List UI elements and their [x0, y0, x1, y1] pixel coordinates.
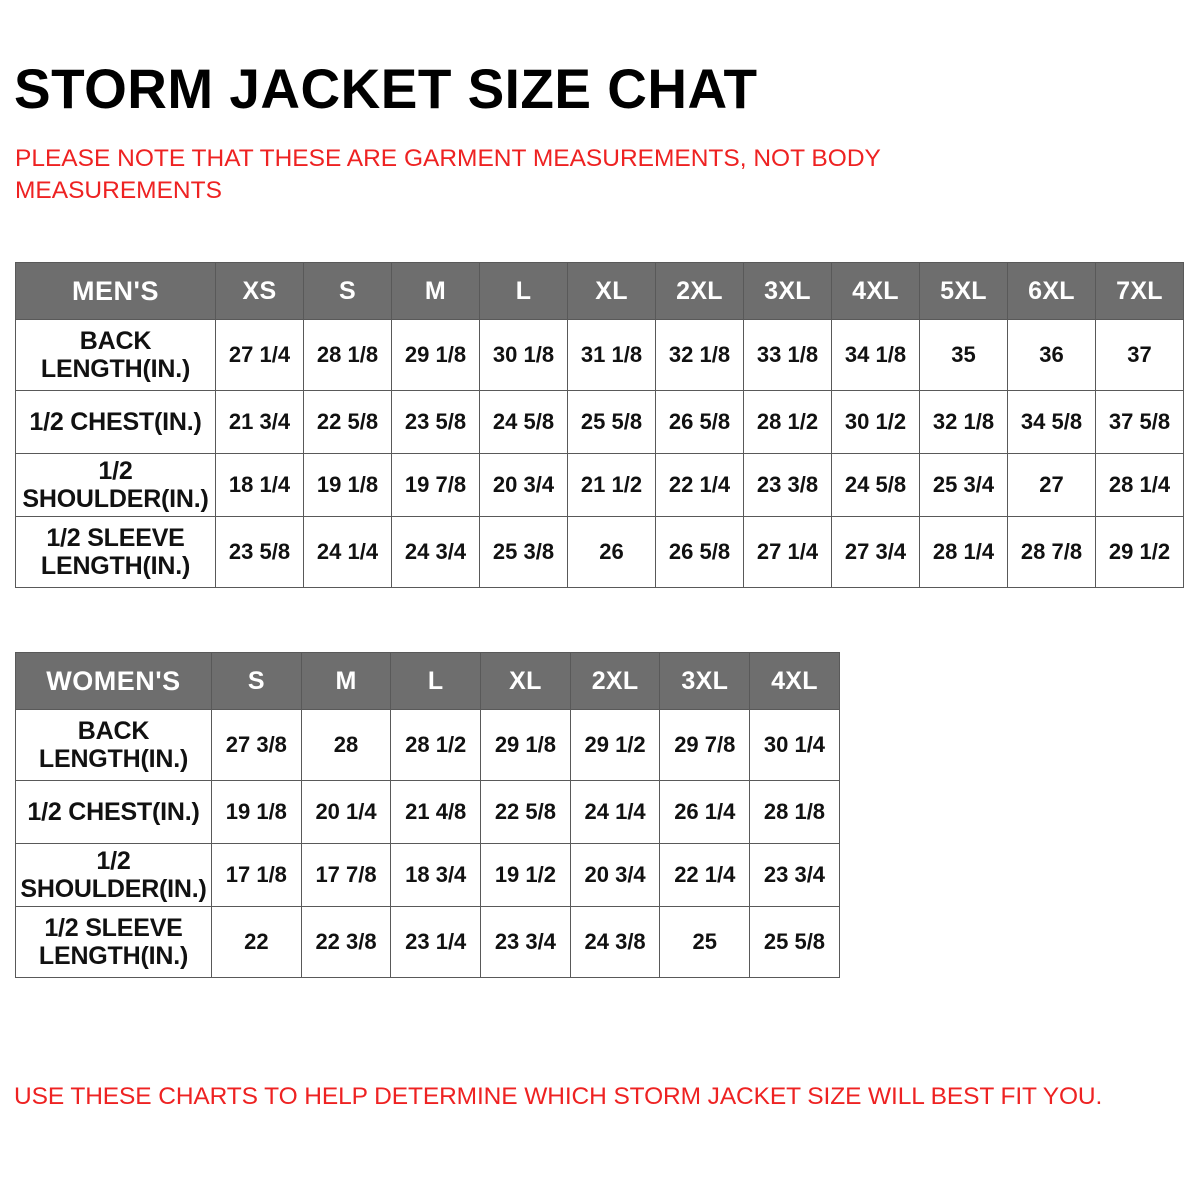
column-header-l: L: [480, 263, 568, 320]
measurement-cell: 30 1/8: [480, 320, 568, 391]
measurement-cell: 26 5/8: [656, 391, 744, 454]
measurement-value: 19 1/8: [317, 472, 378, 498]
measurement-value: 28 1/2: [405, 732, 466, 758]
table-row: 1/2 SLEEVELENGTH(IN.)2222 3/823 1/423 3/…: [16, 907, 840, 978]
column-header-6xl: 6XL: [1008, 263, 1096, 320]
measurement-cell: 21 1/2: [568, 454, 656, 517]
page-title: STORM JACKET SIZE CHAT: [14, 60, 758, 119]
column-header-xs: XS: [216, 263, 304, 320]
measurement-cell: 29 7/8: [660, 710, 750, 781]
measurement-value: 26 5/8: [669, 539, 730, 565]
column-header-m: M: [301, 653, 391, 710]
measurement-value: 22 1/4: [674, 862, 735, 888]
measurement-cell: 18 1/4: [216, 454, 304, 517]
womens-size-table-block: WOMEN'SSMLXL2XL3XL4XL BACKLENGTH(IN.)27 …: [15, 652, 839, 978]
measurement-value: 22: [244, 929, 268, 955]
column-header-2xl: 2XL: [570, 653, 660, 710]
measurement-value: 32 1/8: [669, 342, 730, 368]
measurement-cell: 28 1/4: [1096, 454, 1184, 517]
measurement-cell: 34 5/8: [1008, 391, 1096, 454]
measurement-cell: 22: [212, 907, 302, 978]
mens-size-table: MEN'SXSSMLXL2XL3XL4XL5XL6XL7XL BACKLENGT…: [15, 262, 1184, 588]
measurement-value: 29 1/2: [585, 732, 646, 758]
measurement-cell: 25 5/8: [568, 391, 656, 454]
measurement-value: 21 3/4: [229, 409, 290, 435]
row-label: 1/2 CHEST(IN.): [16, 391, 216, 454]
measurement-value: 27 1/4: [757, 539, 818, 565]
measurement-value: 35: [951, 342, 975, 368]
measurement-value: 27 3/4: [845, 539, 906, 565]
size-chart-page: STORM JACKET SIZE CHAT PLEASE NOTE THAT …: [0, 0, 1200, 1200]
measurement-cell: 28 1/8: [304, 320, 392, 391]
womens-size-table: WOMEN'SSMLXL2XL3XL4XL BACKLENGTH(IN.)27 …: [15, 652, 840, 978]
row-label: 1/2 CHEST(IN.): [16, 781, 212, 844]
row-label: 1/2 SLEEVELENGTH(IN.): [16, 517, 216, 588]
measurement-cell: 36: [1008, 320, 1096, 391]
measurement-cell: 28 7/8: [1008, 517, 1096, 588]
measurement-cell: 22 5/8: [304, 391, 392, 454]
measurement-value: 22 1/4: [669, 472, 730, 498]
measurement-value: 28: [334, 732, 358, 758]
measurement-cell: 20 3/4: [480, 454, 568, 517]
measurement-cell: 31 1/8: [568, 320, 656, 391]
measurement-value: 24 3/4: [405, 539, 466, 565]
column-header-xl: XL: [568, 263, 656, 320]
measurement-value: 34 1/8: [845, 342, 906, 368]
measurement-value: 25 3/4: [933, 472, 994, 498]
measurement-cell: 37: [1096, 320, 1184, 391]
table-row: 1/2 CHEST(IN.)19 1/820 1/421 4/822 5/824…: [16, 781, 840, 844]
measurement-value: 19 1/8: [226, 799, 287, 825]
measurement-cell: 26 1/4: [660, 781, 750, 844]
measurement-value: 28 7/8: [1021, 539, 1082, 565]
measurement-value: 37 5/8: [1109, 409, 1170, 435]
measurement-cell: 19 1/8: [212, 781, 302, 844]
measurement-cell: 34 1/8: [832, 320, 920, 391]
measurement-value: 25 3/8: [493, 539, 554, 565]
measurement-cell: 19 1/2: [481, 844, 571, 907]
measurement-cell: 33 1/8: [744, 320, 832, 391]
mens-table-header: MEN'SXSSMLXL2XL3XL4XL5XL6XL7XL: [16, 263, 1184, 320]
measurement-value: 22 5/8: [317, 409, 378, 435]
measurement-value: 28 1/8: [764, 799, 825, 825]
table-row: 1/2 SHOULDER(IN.)17 1/817 7/818 3/419 1/…: [16, 844, 840, 907]
measurement-value: 24 5/8: [845, 472, 906, 498]
measurement-cell: 20 3/4: [570, 844, 660, 907]
column-header-s: S: [212, 653, 302, 710]
measurement-cell: 24 5/8: [480, 391, 568, 454]
measurement-cell: 26 5/8: [656, 517, 744, 588]
measurement-cell: 32 1/8: [656, 320, 744, 391]
measurement-value: 29 1/8: [405, 342, 466, 368]
column-header-l: L: [391, 653, 481, 710]
measurement-value: 27 1/4: [229, 342, 290, 368]
measurement-cell: 23 5/8: [216, 517, 304, 588]
measurement-value: 23 3/4: [764, 862, 825, 888]
measurement-cell: 24 3/4: [392, 517, 480, 588]
measurement-cell: 24 1/4: [304, 517, 392, 588]
measurement-value: 25 5/8: [581, 409, 642, 435]
measurement-cell: 37 5/8: [1096, 391, 1184, 454]
row-label: 1/2 SLEEVELENGTH(IN.): [16, 907, 212, 978]
measurement-value: 30 1/8: [493, 342, 554, 368]
garment-measurement-note: PLEASE NOTE THAT THESE ARE GARMENT MEASU…: [15, 143, 975, 208]
column-header-2xl: 2XL: [656, 263, 744, 320]
measurement-value: 26 5/8: [669, 409, 730, 435]
measurement-cell: 23 5/8: [392, 391, 480, 454]
measurement-value: 33 1/8: [757, 342, 818, 368]
womens-header-row: WOMEN'SSMLXL2XL3XL4XL: [16, 653, 840, 710]
measurement-value: 37: [1127, 342, 1151, 368]
measurement-value: 28 1/2: [757, 409, 818, 435]
measurement-value: 21 1/2: [581, 472, 642, 498]
measurement-cell: 22 5/8: [481, 781, 571, 844]
measurement-cell: 23 3/4: [481, 907, 571, 978]
measurement-value: 19 7/8: [405, 472, 466, 498]
measurement-cell: 28 1/8: [750, 781, 840, 844]
measurement-cell: 19 1/8: [304, 454, 392, 517]
measurement-cell: 19 7/8: [392, 454, 480, 517]
mens-header-row: MEN'SXSSMLXL2XL3XL4XL5XL6XL7XL: [16, 263, 1184, 320]
measurement-value: 36: [1039, 342, 1063, 368]
measurement-value: 29 1/8: [495, 732, 556, 758]
measurement-value: 31 1/8: [581, 342, 642, 368]
column-header-4xl: 4XL: [750, 653, 840, 710]
measurement-cell: 25: [660, 907, 750, 978]
measurement-cell: 20 1/4: [301, 781, 391, 844]
womens-table-header: WOMEN'SSMLXL2XL3XL4XL: [16, 653, 840, 710]
measurement-cell: 29 1/8: [481, 710, 571, 781]
mens-table-body: BACKLENGTH(IN.)27 1/428 1/829 1/830 1/83…: [16, 320, 1184, 588]
measurement-value: 30 1/4: [764, 732, 825, 758]
measurement-cell: 28 1/2: [391, 710, 481, 781]
measurement-value: 27: [1039, 472, 1063, 498]
measurement-value: 28 1/8: [317, 342, 378, 368]
measurement-cell: 21 3/4: [216, 391, 304, 454]
measurement-value: 28 1/4: [933, 539, 994, 565]
measurement-cell: 27 1/4: [216, 320, 304, 391]
row-label: BACKLENGTH(IN.): [16, 710, 212, 781]
womens-table-body: BACKLENGTH(IN.)27 3/82828 1/229 1/829 1/…: [16, 710, 840, 978]
measurement-cell: 29 1/2: [1096, 517, 1184, 588]
measurement-value: 26: [599, 539, 623, 565]
measurement-value: 18 1/4: [229, 472, 290, 498]
footer-note: USE THESE CHARTS TO HELP DETERMINE WHICH…: [14, 1083, 1134, 1111]
column-header-3xl: 3XL: [744, 263, 832, 320]
measurement-value: 23 5/8: [405, 409, 466, 435]
column-header-4xl: 4XL: [832, 263, 920, 320]
measurement-value: 25 5/8: [764, 929, 825, 955]
measurement-value: 29 1/2: [1109, 539, 1170, 565]
column-header-7xl: 7XL: [1096, 263, 1184, 320]
mens-corner-label: MEN'S: [16, 263, 216, 320]
measurement-cell: 17 1/8: [212, 844, 302, 907]
measurement-value: 24 1/4: [317, 539, 378, 565]
measurement-value: 26 1/4: [674, 799, 735, 825]
measurement-cell: 21 4/8: [391, 781, 481, 844]
measurement-value: 17 7/8: [315, 862, 376, 888]
measurement-cell: 25 5/8: [750, 907, 840, 978]
measurement-cell: 29 1/8: [392, 320, 480, 391]
measurement-value: 23 3/8: [757, 472, 818, 498]
column-header-3xl: 3XL: [660, 653, 750, 710]
measurement-cell: 27 3/8: [212, 710, 302, 781]
measurement-value: 32 1/8: [933, 409, 994, 435]
measurement-value: 27 3/8: [226, 732, 287, 758]
measurement-cell: 27 1/4: [744, 517, 832, 588]
measurement-cell: 22 1/4: [656, 454, 744, 517]
table-row: 1/2 SLEEVELENGTH(IN.)23 5/824 1/424 3/42…: [16, 517, 1184, 588]
measurement-cell: 26: [568, 517, 656, 588]
column-header-m: M: [392, 263, 480, 320]
measurement-cell: 30 1/4: [750, 710, 840, 781]
measurement-cell: 22 3/8: [301, 907, 391, 978]
measurement-value: 23 1/4: [405, 929, 466, 955]
column-header-5xl: 5XL: [920, 263, 1008, 320]
measurement-value: 17 1/8: [226, 862, 287, 888]
measurement-cell: 28 1/4: [920, 517, 1008, 588]
row-label: 1/2 SHOULDER(IN.): [16, 844, 212, 907]
table-row: BACKLENGTH(IN.)27 1/428 1/829 1/830 1/83…: [16, 320, 1184, 391]
measurement-cell: 18 3/4: [391, 844, 481, 907]
measurement-value: 20 3/4: [493, 472, 554, 498]
measurement-cell: 28: [301, 710, 391, 781]
measurement-value: 24 5/8: [493, 409, 554, 435]
measurement-cell: 28 1/2: [744, 391, 832, 454]
measurement-cell: 24 3/8: [570, 907, 660, 978]
measurement-cell: 27: [1008, 454, 1096, 517]
measurement-value: 29 7/8: [674, 732, 735, 758]
measurement-cell: 23 3/8: [744, 454, 832, 517]
table-row: 1/2 SHOULDER(IN.)18 1/419 1/819 7/820 3/…: [16, 454, 1184, 517]
measurement-value: 28 1/4: [1109, 472, 1170, 498]
measurement-cell: 29 1/2: [570, 710, 660, 781]
measurement-cell: 30 1/2: [832, 391, 920, 454]
measurement-value: 19 1/2: [495, 862, 556, 888]
measurement-cell: 23 1/4: [391, 907, 481, 978]
measurement-value: 24 1/4: [585, 799, 646, 825]
measurement-cell: 24 5/8: [832, 454, 920, 517]
column-header-s: S: [304, 263, 392, 320]
measurement-cell: 27 3/4: [832, 517, 920, 588]
measurement-value: 20 3/4: [585, 862, 646, 888]
measurement-cell: 17 7/8: [301, 844, 391, 907]
measurement-value: 22 5/8: [495, 799, 556, 825]
measurement-value: 21 4/8: [405, 799, 466, 825]
measurement-cell: 25 3/8: [480, 517, 568, 588]
measurement-cell: 25 3/4: [920, 454, 1008, 517]
measurement-cell: 24 1/4: [570, 781, 660, 844]
measurement-cell: 23 3/4: [750, 844, 840, 907]
measurement-cell: 22 1/4: [660, 844, 750, 907]
row-label: 1/2 SHOULDER(IN.): [16, 454, 216, 517]
measurement-value: 34 5/8: [1021, 409, 1082, 435]
table-row: 1/2 CHEST(IN.)21 3/422 5/823 5/824 5/825…: [16, 391, 1184, 454]
measurement-value: 22 3/8: [315, 929, 376, 955]
measurement-cell: 35: [920, 320, 1008, 391]
measurement-cell: 32 1/8: [920, 391, 1008, 454]
measurement-value: 30 1/2: [845, 409, 906, 435]
measurement-value: 23 3/4: [495, 929, 556, 955]
table-row: BACKLENGTH(IN.)27 3/82828 1/229 1/829 1/…: [16, 710, 840, 781]
womens-corner-label: WOMEN'S: [16, 653, 212, 710]
measurement-value: 25: [693, 929, 717, 955]
measurement-value: 23 5/8: [229, 539, 290, 565]
measurement-value: 20 1/4: [315, 799, 376, 825]
measurement-value: 18 3/4: [405, 862, 466, 888]
mens-size-table-block: MEN'SXSSMLXL2XL3XL4XL5XL6XL7XL BACKLENGT…: [15, 262, 1183, 588]
measurement-value: 24 3/8: [585, 929, 646, 955]
row-label: BACKLENGTH(IN.): [16, 320, 216, 391]
column-header-xl: XL: [481, 653, 571, 710]
